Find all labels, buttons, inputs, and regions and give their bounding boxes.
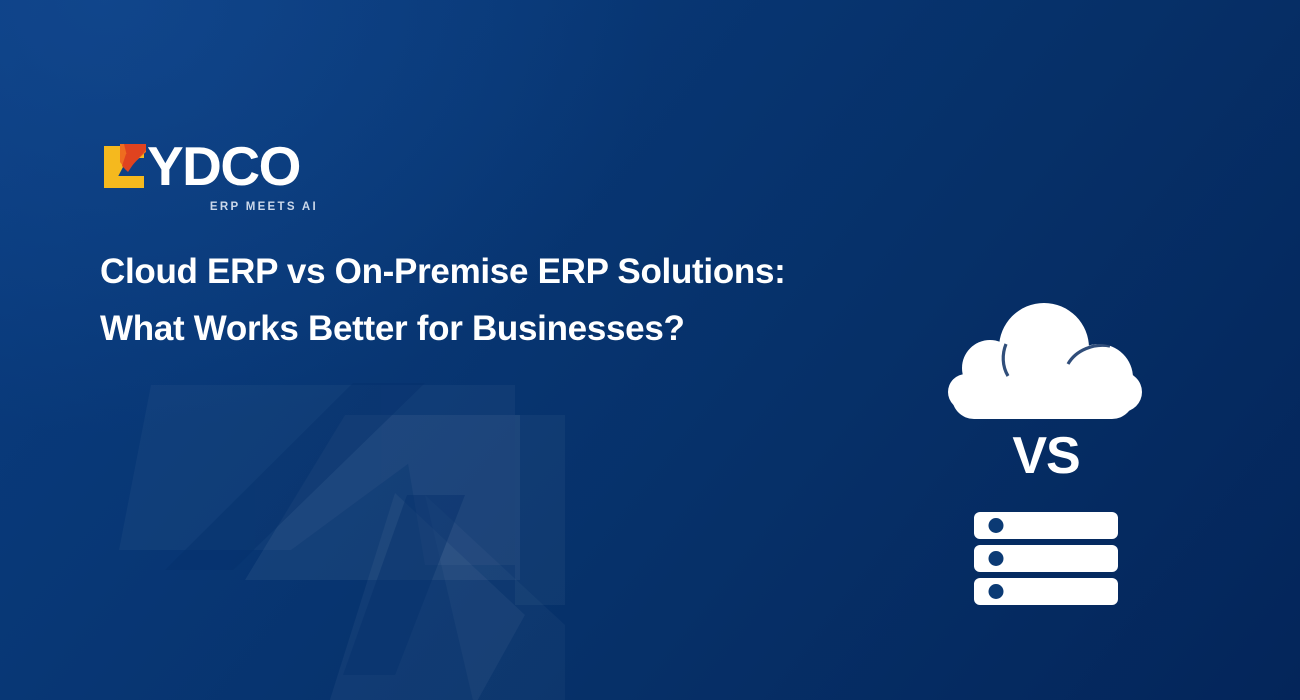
- headline-line-1: Cloud ERP vs On-Premise ERP Solutions:: [100, 244, 890, 301]
- brand-logo[interactable]: YDCO ERP MEETS AI: [100, 132, 400, 213]
- server-rack-icon: [974, 512, 1118, 606]
- logo-tagline: ERP MEETS AI: [100, 201, 318, 213]
- vs-label: VS: [940, 430, 1152, 482]
- page-title: Cloud ERP vs On-Premise ERP Solutions: W…: [100, 244, 890, 357]
- zydco-z-watermark-icon: [95, 375, 675, 700]
- cloud-vs-onpremise-graphic: VS: [940, 296, 1152, 608]
- logo-wordmark: YDCO: [147, 139, 300, 194]
- hero-banner: YDCO ERP MEETS AI Cloud ERP vs On-Premis…: [0, 0, 1300, 700]
- headline-line-2: What Works Better for Businesses?: [100, 301, 890, 358]
- logo-row: YDCO: [100, 132, 400, 194]
- cloud-icon: [944, 296, 1142, 424]
